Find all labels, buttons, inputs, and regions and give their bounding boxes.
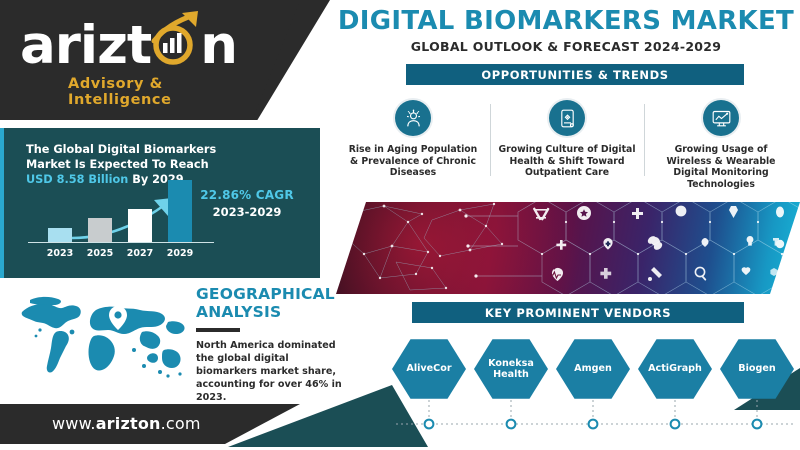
vendor-hexagon[interactable]: ActiGraph — [638, 338, 712, 400]
vendor-hexagon-shape: Koneksa Health — [474, 338, 548, 400]
website-url[interactable]: www.arizton.com — [52, 414, 201, 433]
aging-population-icon — [395, 100, 431, 136]
vendor-hexagon-shape: Amgen — [556, 338, 630, 400]
vendor-hexagon[interactable]: Koneksa Health — [474, 338, 548, 400]
trends-list: Rise in Aging Population & Prevalence of… — [336, 100, 798, 200]
vendor-hexagon-shape: Biogen — [720, 338, 794, 400]
chart-bar — [48, 228, 72, 242]
chart-x-label: 2029 — [162, 248, 198, 259]
page-title: DIGITAL BIOMARKERS MARKET — [336, 6, 796, 37]
geo-title: GEOGRAPHICAL ANALYSIS — [196, 285, 346, 321]
chart-x-labels: 2023202520272029 — [40, 248, 200, 259]
infographic-page: arizt n Advisory & Intelligence DIGITAL … — [0, 0, 800, 450]
market-value-headline-line2: Market Is Expected To Reach — [26, 158, 209, 171]
geo-description: North America dominated the global digit… — [196, 339, 346, 404]
geo-title-line2: ANALYSIS — [196, 303, 281, 321]
world-map-icon — [10, 288, 200, 388]
vendor-hexagon-shape: AliveCor — [392, 338, 466, 400]
cagr-block: 22.86% CAGR 2023-2029 — [188, 188, 306, 219]
chart-bar — [128, 209, 152, 242]
trend-label: Growing Usage of Wireless & Wearable Dig… — [644, 144, 798, 190]
market-value-headline-line1: The Global Digital Biomarkers — [26, 143, 216, 156]
geo-title-line1: GEOGRAPHICAL — [196, 285, 335, 303]
vendor-name: ActiGraph — [648, 363, 702, 375]
market-value-panel: The Global Digital Biomarkers Market Is … — [4, 128, 320, 278]
url-brand: arizton — [96, 414, 161, 433]
url-suffix: .com — [161, 414, 201, 433]
cagr-value: 22.86% CAGR — [188, 188, 306, 202]
mobile-health-app-icon — [549, 100, 585, 136]
vendors-list: AliveCorKoneksa HealthAmgenActiGraphBiog… — [392, 338, 796, 400]
vendor-name: Amgen — [574, 363, 612, 375]
geo-divider — [196, 328, 240, 332]
vendor-hexagon[interactable]: AliveCor — [392, 338, 466, 400]
cagr-period: 2023-2029 — [188, 205, 306, 219]
opportunities-banner-label: OPPORTUNITIES & TRENDS — [481, 68, 668, 82]
monitor-chart-icon — [703, 100, 739, 136]
geographical-analysis-block: GEOGRAPHICAL ANALYSIS North America domi… — [196, 285, 346, 404]
vendor-hexagon[interactable]: Biogen — [720, 338, 794, 400]
logo-growth-arrow-icon — [152, 23, 199, 70]
title-block: DIGITAL BIOMARKERS MARKET GLOBAL OUTLOOK… — [336, 6, 796, 54]
chart-x-label: 2023 — [42, 248, 78, 259]
vendor-name: AliveCor — [406, 363, 451, 375]
arizton-logo: arizt n Advisory & Intelligence — [20, 18, 270, 104]
logo-wordmark: arizt n — [20, 18, 270, 74]
vendors-timeline — [392, 398, 800, 434]
logo-tagline: Advisory & Intelligence — [68, 76, 270, 108]
market-forecast-bar-chart: 2023202520272029 — [40, 180, 200, 258]
chart-bar — [168, 180, 192, 242]
vendor-name: Koneksa Health — [474, 358, 548, 381]
vendors-banner: KEY PROMINENT VENDORS — [412, 302, 744, 323]
trend-label: Rise in Aging Population & Prevalence of… — [336, 144, 490, 179]
trend-label: Growing Culture of Digital Health & Shif… — [490, 144, 644, 179]
chart-axis-line — [28, 242, 214, 243]
vendor-hexagon[interactable]: Amgen — [556, 338, 630, 400]
vendor-name: Biogen — [738, 363, 775, 375]
chart-bars — [40, 180, 200, 242]
trend-item-digital-health: Growing Culture of Digital Health & Shif… — [490, 100, 644, 200]
chart-x-label: 2027 — [122, 248, 158, 259]
logo-text-ariz: ariz — [20, 18, 127, 74]
trend-item-wearable-monitoring: Growing Usage of Wireless & Wearable Dig… — [644, 100, 798, 200]
chart-x-label: 2025 — [82, 248, 118, 259]
url-prefix: www. — [52, 414, 96, 433]
page-subtitle: GLOBAL OUTLOOK & FORECAST 2024-2029 — [336, 39, 796, 54]
vendors-banner-label: KEY PROMINENT VENDORS — [485, 306, 671, 320]
market-value-accent-bar — [0, 128, 4, 278]
opportunities-banner: OPPORTUNITIES & TRENDS — [406, 64, 744, 85]
decorative-medical-network-banner — [336, 202, 800, 294]
trend-item-aging-population: Rise in Aging Population & Prevalence of… — [336, 100, 490, 200]
chart-bar — [88, 218, 112, 242]
vendor-hexagon-shape: ActiGraph — [638, 338, 712, 400]
